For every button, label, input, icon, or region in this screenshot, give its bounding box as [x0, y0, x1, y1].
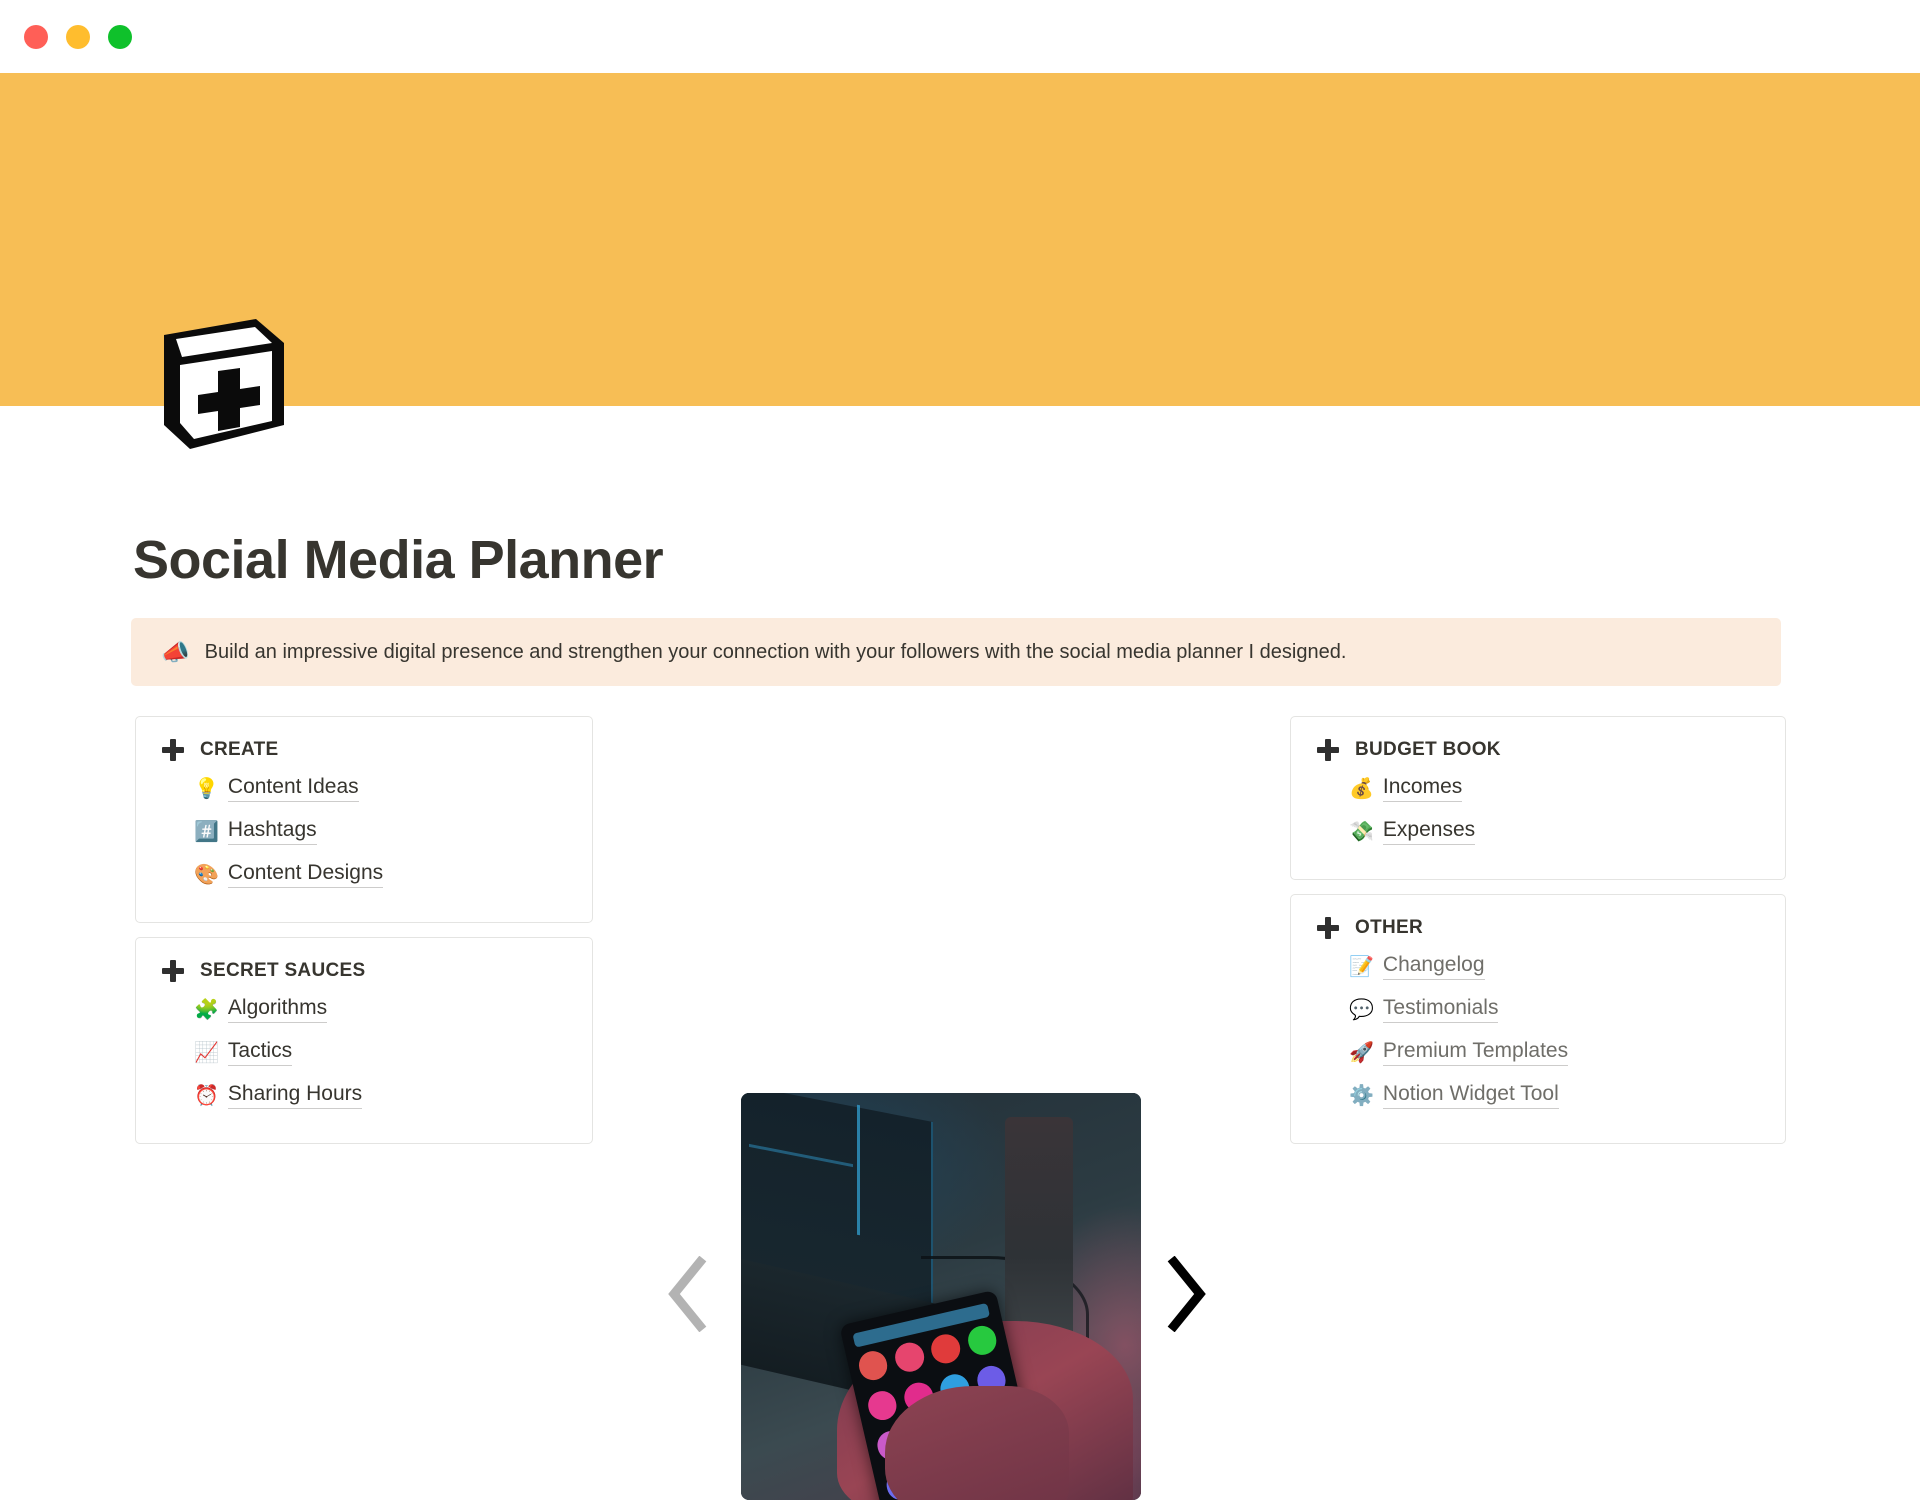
card-create: CREATE 💡 Content Ideas #️⃣ Hashtags 🎨 Co…: [135, 716, 593, 923]
fingers-shape: [885, 1386, 1069, 1500]
list-item[interactable]: 💰 Incomes: [1349, 767, 1759, 810]
plus-icon[interactable]: [162, 960, 184, 982]
window-minimize-button[interactable]: [66, 25, 90, 49]
megaphone-icon: 📣: [161, 641, 190, 664]
list-item[interactable]: #️⃣ Hashtags: [194, 810, 566, 853]
plus-icon[interactable]: [162, 739, 184, 761]
three-column-layout: CREATE 💡 Content Ideas #️⃣ Hashtags 🎨 Co…: [0, 716, 1920, 1200]
plus-icon[interactable]: [1317, 739, 1339, 761]
link-changelog[interactable]: Changelog: [1383, 953, 1485, 980]
hashtag-icon: #️⃣: [194, 822, 219, 842]
callout-banner: 📣 Build an impressive digital presence a…: [131, 618, 1781, 686]
rocket-icon: 🚀: [1349, 1043, 1374, 1063]
card-other-header[interactable]: OTHER: [1317, 917, 1759, 939]
chart-increasing-icon: 📈: [194, 1043, 219, 1063]
card-other: OTHER 📝 Changelog 💬 Testimonials 🚀 Premi…: [1290, 894, 1786, 1144]
lightbulb-icon: 💡: [194, 779, 219, 799]
link-sharing-hours[interactable]: Sharing Hours: [228, 1082, 362, 1109]
image-carousel: [640, 716, 1280, 1200]
right-column: BUDGET BOOK 💰 Incomes 💸 Expenses O: [1290, 716, 1786, 1144]
page-title: Social Media Planner: [133, 531, 663, 590]
list-item[interactable]: ⏰ Sharing Hours: [194, 1074, 566, 1117]
palette-icon: 🎨: [194, 865, 219, 885]
card-secret-sauces-header[interactable]: SECRET SAUCES: [162, 960, 566, 982]
link-hashtags[interactable]: Hashtags: [228, 818, 317, 845]
page-content: Social Media Planner 📣 Build an impressi…: [0, 406, 1920, 1200]
link-algorithms[interactable]: Algorithms: [228, 996, 327, 1023]
plus-icon[interactable]: [1317, 917, 1339, 939]
card-budget-book: BUDGET BOOK 💰 Incomes 💸 Expenses: [1290, 716, 1786, 880]
phone-app-icon: [892, 1339, 927, 1374]
middle-column: [640, 716, 1280, 1200]
phone-app-icon: [856, 1348, 891, 1383]
alarm-clock-icon: ⏰: [194, 1086, 219, 1106]
chevron-left-icon[interactable]: [666, 1256, 712, 1332]
left-column: CREATE 💡 Content Ideas #️⃣ Hashtags 🎨 Co…: [135, 716, 593, 1144]
card-secret-sauces-items: 🧩 Algorithms 📈 Tactics ⏰ Sharing Hours: [162, 988, 566, 1117]
puzzle-icon: 🧩: [194, 1000, 219, 1020]
memo-icon: 📝: [1349, 957, 1374, 977]
laptop-edge-glow: [857, 1105, 860, 1236]
window-close-button[interactable]: [24, 25, 48, 49]
list-item[interactable]: 🎨 Content Designs: [194, 853, 566, 896]
card-budget-book-items: 💰 Incomes 💸 Expenses: [1317, 767, 1759, 853]
card-other-items: 📝 Changelog 💬 Testimonials 🚀 Premium Tem…: [1317, 945, 1759, 1117]
chevron-right-icon[interactable]: [1162, 1256, 1208, 1332]
cube-plus-icon[interactable]: [152, 313, 290, 455]
list-item[interactable]: 📈 Tactics: [194, 1031, 566, 1074]
carousel-photo[interactable]: [741, 1093, 1141, 1500]
link-content-ideas[interactable]: Content Ideas: [228, 775, 359, 802]
link-testimonials[interactable]: Testimonials: [1383, 996, 1499, 1023]
card-other-title: OTHER: [1355, 917, 1423, 939]
card-secret-sauces-title: SECRET SAUCES: [200, 960, 365, 982]
callout-text: Build an impressive digital presence and…: [205, 638, 1347, 666]
money-bag-icon: 💰: [1349, 779, 1374, 799]
link-tactics[interactable]: Tactics: [228, 1039, 292, 1066]
card-secret-sauces: SECRET SAUCES 🧩 Algorithms 📈 Tactics ⏰ S…: [135, 937, 593, 1144]
money-with-wings-icon: 💸: [1349, 822, 1374, 842]
window-maximize-button[interactable]: [108, 25, 132, 49]
card-create-title: CREATE: [200, 739, 279, 761]
phone-app-icon: [865, 1388, 900, 1423]
phone-app-icon: [928, 1331, 963, 1366]
list-item[interactable]: 🧩 Algorithms: [194, 988, 566, 1031]
link-notion-widget-tool[interactable]: Notion Widget Tool: [1383, 1082, 1559, 1109]
phone-app-icon: [965, 1322, 1000, 1357]
list-item[interactable]: 🚀 Premium Templates: [1349, 1031, 1759, 1074]
card-budget-book-title: BUDGET BOOK: [1355, 739, 1501, 761]
gear-icon: ⚙️: [1349, 1086, 1374, 1106]
window-traffic-lights: [24, 25, 132, 49]
link-expenses[interactable]: Expenses: [1383, 818, 1475, 845]
list-item[interactable]: 📝 Changelog: [1349, 945, 1759, 988]
link-incomes[interactable]: Incomes: [1383, 775, 1462, 802]
list-item[interactable]: 💡 Content Ideas: [194, 767, 566, 810]
card-create-items: 💡 Content Ideas #️⃣ Hashtags 🎨 Content D…: [162, 767, 566, 896]
speech-balloon-icon: 💬: [1349, 1000, 1374, 1020]
card-create-header[interactable]: CREATE: [162, 739, 566, 761]
link-content-designs[interactable]: Content Designs: [228, 861, 383, 888]
list-item[interactable]: ⚙️ Notion Widget Tool: [1349, 1074, 1759, 1117]
link-premium-templates[interactable]: Premium Templates: [1383, 1039, 1568, 1066]
window-titlebar: [0, 0, 1920, 73]
list-item[interactable]: 💬 Testimonials: [1349, 988, 1759, 1031]
card-budget-book-header[interactable]: BUDGET BOOK: [1317, 739, 1759, 761]
list-item[interactable]: 💸 Expenses: [1349, 810, 1759, 853]
